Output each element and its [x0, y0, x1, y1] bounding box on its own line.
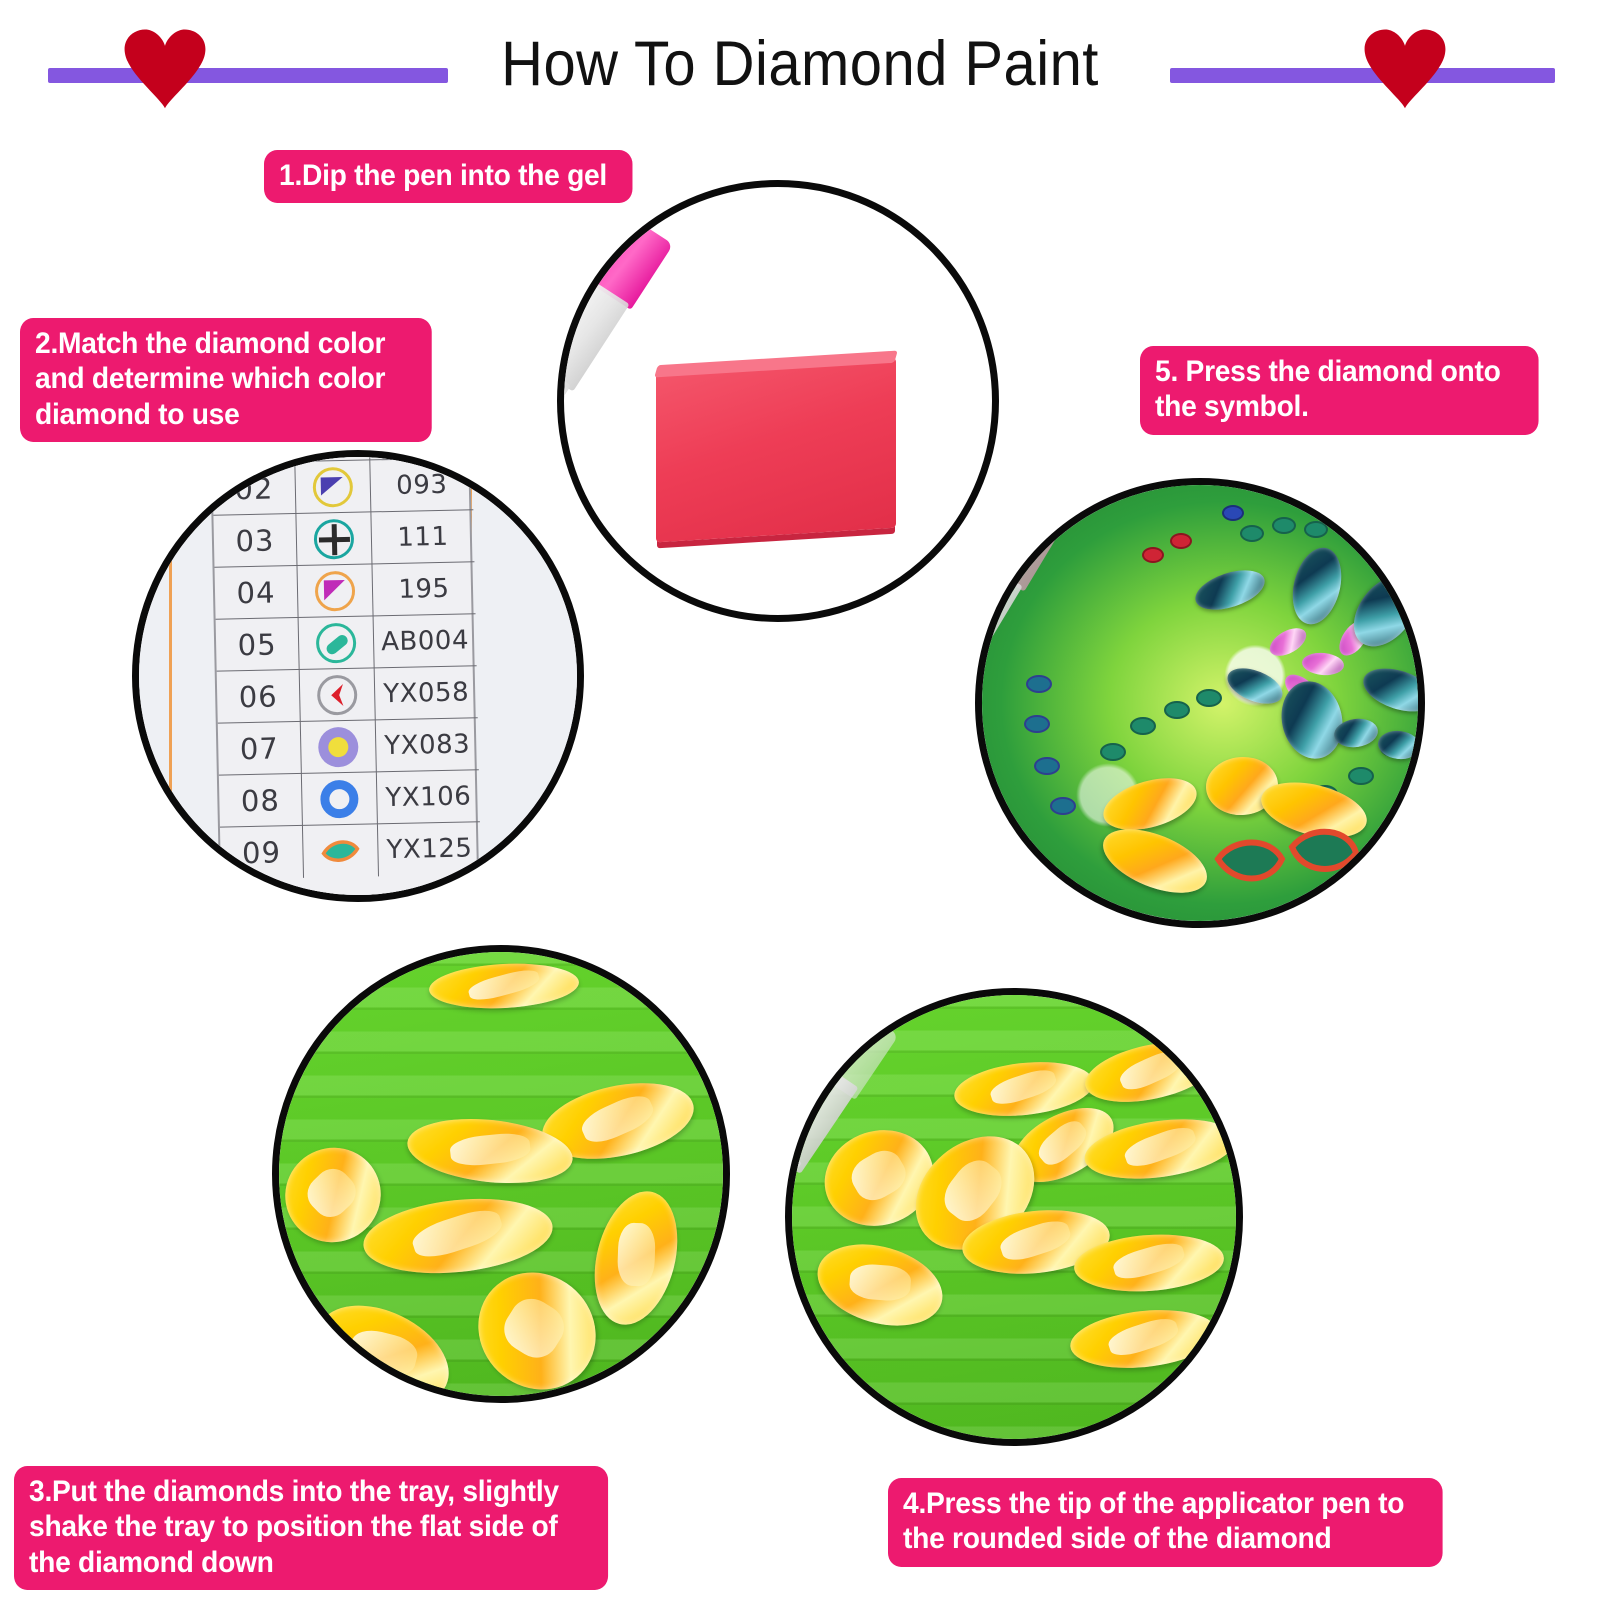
row-symbol: [299, 668, 376, 722]
step-4-caption: 4.Press the tip of the applicator pen to…: [888, 1478, 1443, 1567]
row-code: YX106: [377, 781, 480, 813]
sheet-margin-line: [169, 450, 172, 902]
row-number: 08: [219, 782, 302, 818]
row-code: YX058: [375, 677, 478, 709]
row-code: YX125: [378, 833, 481, 865]
triangle-magenta-icon: [315, 570, 356, 611]
row-symbol: [296, 564, 373, 618]
row-symbol: [300, 720, 377, 774]
row-number: 04: [215, 574, 298, 610]
row-number: 02: [213, 471, 296, 507]
page-header: How To Diamond Paint: [0, 0, 1600, 130]
row-number: 06: [217, 678, 300, 714]
rounded-bar-icon: [316, 622, 357, 663]
row-code: 093: [371, 469, 474, 501]
row-number: 07: [218, 730, 301, 766]
table-row: 05 AB004: [216, 614, 477, 671]
step-4-photo: [785, 988, 1243, 1446]
row-symbol: [302, 824, 379, 878]
blue-dots-in-purple-circle-icon: [311, 450, 352, 455]
step-2-photo: 028 02 093 03: [132, 450, 584, 902]
table-row: 08 YX106: [219, 770, 480, 827]
step-5-photo: [975, 478, 1425, 928]
table-row: 06 YX058: [217, 666, 478, 723]
row-code: 111: [372, 521, 475, 553]
row-number: 09: [220, 835, 303, 871]
row-symbol: [298, 616, 375, 670]
triangle-blue-icon: [312, 466, 353, 507]
step-3-photo: [272, 945, 730, 1403]
row-symbol: [301, 772, 378, 826]
row-symbol: [294, 460, 371, 514]
legend-chart-table: 028 02 093 03: [210, 450, 480, 902]
row-number: 05: [216, 626, 299, 662]
step-5-caption: 5. Press the diamond onto the symbol.: [1140, 346, 1539, 435]
page-title: How To Diamond Paint: [64, 28, 1536, 100]
teal-leaf-icon: [320, 831, 361, 872]
table-row: 03 111: [213, 510, 474, 567]
step-2-caption: 2.Match the diamond color and determine …: [20, 318, 432, 442]
gel-pad: [656, 358, 896, 543]
table-row: 07 YX083: [218, 718, 479, 775]
row-code: YX083: [376, 729, 479, 761]
blue-donut-ring-icon: [319, 778, 360, 819]
table-row: 02 093: [212, 458, 473, 515]
step-1-photo: [557, 180, 999, 622]
row-symbol: [295, 512, 372, 566]
row-number: 03: [214, 522, 297, 558]
chevron-left-icon: [317, 674, 358, 715]
table-row: 09 YX125: [220, 822, 481, 879]
step-3-caption: 3.Put the diamonds into the tray, slight…: [14, 1466, 608, 1590]
table-row: 04 195: [215, 562, 476, 619]
row-code: 195: [373, 573, 476, 605]
row-code: AB004: [374, 625, 477, 657]
yellow-dot-in-purple-ring-icon: [318, 726, 359, 767]
cross-plus-icon: [314, 518, 355, 559]
